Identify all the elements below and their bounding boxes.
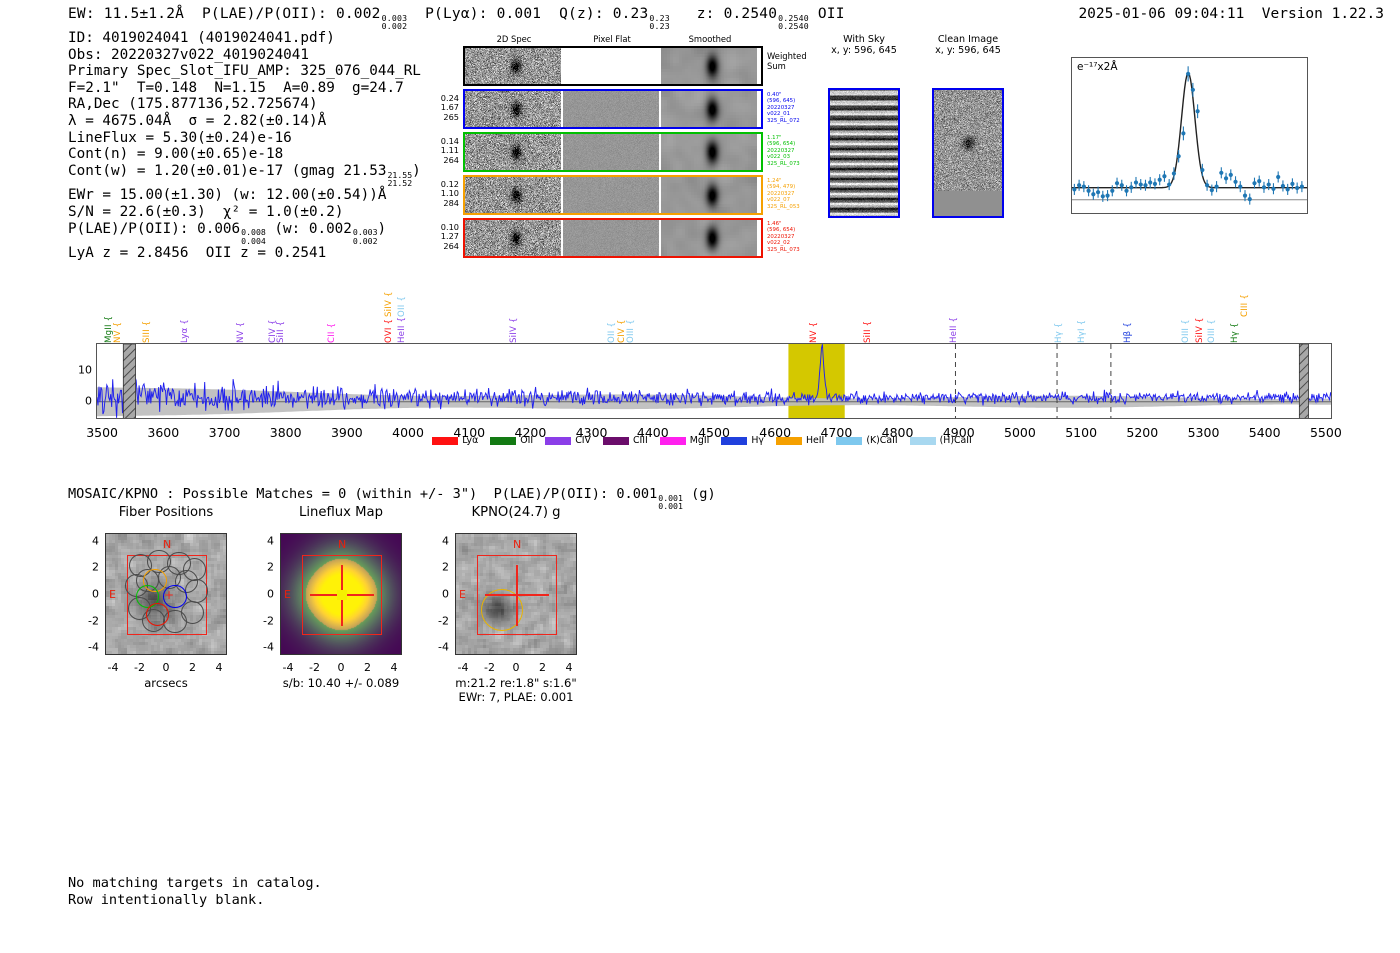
emission-line-marker: Hγ { <box>1054 322 1064 343</box>
spec2d-pixelflat <box>563 177 659 213</box>
emission-line-marker: OIII { <box>1181 319 1191 343</box>
image-panel-xtick: 0 <box>513 661 520 674</box>
cutout-name: Clean Image <box>910 34 1026 45</box>
image-panel-xtick: -2 <box>309 661 320 674</box>
cutout-clean-image <box>932 88 1004 218</box>
footer-note: No matching targets in catalog. Row inte… <box>68 875 322 909</box>
spec2d-row-right-values: 1.24"(594, 479)20220327v022_07325_RL_053 <box>767 178 827 210</box>
image-panel-title: Lineflux Map <box>280 505 402 520</box>
spec2d-row <box>463 132 763 172</box>
image-panel-canvas-frame: NE <box>455 533 577 655</box>
cutout-image <box>830 90 898 216</box>
crosshair-center-gap <box>512 590 522 600</box>
cutout-name: With Sky <box>806 34 922 45</box>
legend-swatch <box>490 437 516 445</box>
info-radec: RA,Dec (175.877136,52.725674) <box>68 96 421 113</box>
image-panel-xtick: -4 <box>282 661 293 674</box>
header-summary-line: EW: 11.5±1.2Å P(LAE)/P(OII): 0.0020.0030… <box>68 6 845 31</box>
emission-line-marker: OIII { <box>626 319 636 343</box>
emission-line-marker: NV { <box>236 322 246 343</box>
masked-band <box>123 344 135 419</box>
info-sn-chi2: S/N = 22.6(±0.3) χ² = 1.0(±0.2) <box>68 204 421 221</box>
spec2d-smoothed <box>661 91 757 127</box>
spec2d-row-left-values: 0.121.10284 <box>419 180 459 208</box>
image-panel-title: Fiber Positions <box>105 505 227 520</box>
image-panel-xtick: 2 <box>364 661 371 674</box>
image-panel-xtick: 2 <box>189 661 196 674</box>
info-obs: Obs: 20220327v022_4019024041 <box>68 47 421 64</box>
spec2d-smoothed <box>661 48 757 84</box>
full-spectrum-ytick: 10 <box>78 364 92 377</box>
emission-line-marker: HeII { <box>949 317 959 343</box>
header-version: Version 1.22.3 <box>1262 6 1384 22</box>
emission-line-marker: CIII { <box>1240 294 1250 317</box>
info-cont-n: Cont(n) = 9.00(±0.65)e-18 <box>68 146 421 163</box>
full-spectrum-xtick: 4300 <box>576 425 608 440</box>
image-panel-row: Fiber PositionsNE+-4-4-2-2002244arcsecsL… <box>0 505 1400 735</box>
image-panel-ytick: 0 <box>442 588 449 601</box>
image-panel-kpno: KPNO(24.7) gNE-4-4-2-2002244m:21.2 re:1.… <box>455 505 577 705</box>
weighted-sum-label: Weighted Sum <box>767 52 807 71</box>
spec2d-left-value: 284 <box>419 199 459 208</box>
header-plya: P(Lyα): 0.001 <box>425 6 541 22</box>
full-spectrum-ytick: 0 <box>85 394 92 407</box>
emission-line-marker: OII { <box>397 296 407 317</box>
image-panel-title: KPNO(24.7) g <box>455 505 577 520</box>
emission-line-marker: NV { <box>113 322 123 343</box>
full-spectrum-plot-area: e⁻¹⁷x2Å <box>96 343 1332 419</box>
emission-data-points <box>1072 66 1304 204</box>
full-spectrum-xtick: 4600 <box>759 425 791 440</box>
full-spectrum-xtick: 4700 <box>820 425 852 440</box>
emission-line-marker: Lyα { <box>180 319 190 343</box>
header-qz-value: 0.23 <box>613 6 649 22</box>
compass-north: N <box>163 538 171 551</box>
emission-line-marker: NV { <box>809 322 819 343</box>
spec2d-pixelflat <box>563 91 659 127</box>
spec2d-row-left-values: 0.241.67265 <box>419 94 459 122</box>
image-panel-xtick: 0 <box>338 661 345 674</box>
emission-line-marker: Hβ { <box>1123 322 1133 343</box>
cutout-title: Clean Imagex, y: 596, 645 <box>910 34 1026 57</box>
spec2d-row <box>463 89 763 129</box>
full-spectrum-xtick: 5500 <box>1310 425 1342 440</box>
spec2d-raw <box>465 177 561 213</box>
spec2d-raw <box>465 91 561 127</box>
cutout-with-sky <box>828 88 900 218</box>
image-panel-ytick: 4 <box>92 534 99 547</box>
emission-line-marker: SiII { <box>863 321 873 343</box>
info-cont-w: Cont(w) = 1.20(±0.01)e-17 (gmag 21.5321.… <box>68 163 421 188</box>
full-spectrum-xtick: 3700 <box>209 425 241 440</box>
compass-east: E <box>109 588 116 601</box>
emission-line-marker: HγI { <box>1077 320 1087 343</box>
image-panel-xtick: -2 <box>134 661 145 674</box>
full-spectrum-xtick: 5400 <box>1249 425 1281 440</box>
emission-line-marker: SiIV { <box>384 291 394 317</box>
image-panel-xtick: 4 <box>391 661 398 674</box>
header-plae-label: P(LAE)/P(OII): <box>202 6 327 22</box>
image-panel-ytick: 0 <box>267 588 274 601</box>
info-primary-spec: Primary Spec_Slot_IFU_AMP: 325_076_044_R… <box>68 63 421 80</box>
header-qz-errors: 0.230.23 <box>649 14 670 31</box>
spec2d-raw <box>465 48 561 84</box>
target-marker: + <box>164 588 174 602</box>
image-panel-ytick: -4 <box>263 641 274 654</box>
emission-line-marker: SIII { <box>142 321 152 343</box>
image-panel-ytick: 0 <box>92 588 99 601</box>
header-datetime: 2025-01-06 09:04:11 <box>1078 6 1244 22</box>
spec2d-right-value: 325_RL_073 <box>767 161 827 167</box>
image-panel-ytick: 2 <box>267 561 274 574</box>
cutout-image <box>934 90 1002 216</box>
image-panel-xtick: 4 <box>216 661 223 674</box>
spec2d-left-value: 265 <box>419 113 459 122</box>
spec2d-right-value: 325_RL_073 <box>767 247 827 253</box>
emission-zoom-svg <box>1072 58 1308 214</box>
spec2d-row <box>463 175 763 215</box>
spec2d-row-right-values: 1.17"(596, 654)20220327v022_03325_RL_073 <box>767 135 827 167</box>
spec2d-row-right-values: 1.46"(596, 654)20220327v022_02325_RL_073 <box>767 221 827 253</box>
image-panel-xtick: -2 <box>484 661 495 674</box>
spec2d-left-value: 264 <box>419 242 459 251</box>
emission-line-marker: SiII { <box>276 321 286 343</box>
masked-band <box>1299 344 1308 419</box>
spec2d-smoothed <box>661 177 757 213</box>
spec2d-stack: 2D Spec Pixel Flat Smoothed 0.241.672650… <box>425 34 805 249</box>
emission-line-marker: SiIV { <box>509 317 519 343</box>
image-panel-ytick: -2 <box>88 614 99 627</box>
image-panel-xtick: 2 <box>539 661 546 674</box>
emission-line-marker: Hγ { <box>1230 322 1240 343</box>
header-timestamp-version: 2025-01-06 09:04:11 Version 1.22.3 <box>1078 6 1384 22</box>
image-panel-caption: s/b: 10.40 +/- 0.089 <box>240 677 442 691</box>
compass-east: E <box>459 588 466 601</box>
info-id: ID: 4019024041 (4019024041.pdf) <box>68 30 421 47</box>
gaussian-fit-line <box>1072 73 1308 188</box>
image-panel-ytick: 2 <box>92 561 99 574</box>
image-panel-ytick: -2 <box>438 614 449 627</box>
emission-line-marker: CII { <box>327 323 337 343</box>
compass-north: N <box>338 538 346 551</box>
source-info-block: ID: 4019024041 (4019024041.pdf) Obs: 202… <box>68 30 421 262</box>
full-spectrum-xtick: 4000 <box>392 425 424 440</box>
info-ewr: EWr = 15.00(±1.30) (w: 12.00(±0.54))Å <box>68 187 421 204</box>
image-panel-ytick: -2 <box>263 614 274 627</box>
header-z-errors: 0.25400.2540 <box>778 14 809 31</box>
emission-zoom-unit-label: e⁻¹⁷x2Å <box>1077 61 1118 73</box>
emission-highlight-band <box>788 344 844 419</box>
full-spectrum-xtick: 4100 <box>453 425 485 440</box>
spec2d-smoothed <box>661 220 757 256</box>
emission-line-marker: OII { <box>607 322 617 343</box>
cutout-coords: x, y: 596, 645 <box>910 45 1026 56</box>
spec2d-col-title-2: Smoothed <box>665 34 755 44</box>
legend-swatch <box>545 437 571 445</box>
image-panel-xlabel: arcsecs <box>65 677 267 691</box>
image-panel-xtick: 4 <box>566 661 573 674</box>
image-panel-caption: m:21.2 re:1.8" s:1.6" EWr: 7, PLAE: 0.00… <box>415 677 617 704</box>
full-spectrum-chart: e⁻¹⁷x2Å LyαOIICIVCIIIMgIIHγHeII(K)CaII(H… <box>68 275 1336 465</box>
image-panel-xtick: -4 <box>107 661 118 674</box>
full-spectrum-xtick: 4500 <box>698 425 730 440</box>
header-z-species: OII <box>818 6 845 22</box>
full-spectrum-xtick: 4200 <box>515 425 547 440</box>
image-panel-ytick: 4 <box>267 534 274 547</box>
image-panel-ytick: -4 <box>88 641 99 654</box>
info-redshifts: LyA z = 2.8456 OII z = 0.2541 <box>68 245 421 262</box>
spec2d-smoothed <box>661 134 757 170</box>
emission-zoom-plot-area: e⁻¹⁷x2Å 0510152046404660468047004720 <box>1071 57 1308 214</box>
emission-line-marker: HeII { <box>397 317 407 343</box>
spec2d-row-left-values: 0.101.27264 <box>419 223 459 251</box>
header-z-label: z: <box>697 6 715 22</box>
spec2d-right-value: 325_RL_053 <box>767 204 827 210</box>
image-panel-xtick: -4 <box>457 661 468 674</box>
image-panel-ytick: 2 <box>442 561 449 574</box>
spec2d-raw <box>465 134 561 170</box>
info-lambda-sigma: λ = 4675.04Å σ = 2.82(±0.14)Å <box>68 113 421 130</box>
image-panel-canvas-frame: NE <box>280 533 402 655</box>
info-gmag-errors: 21.5521.52 <box>387 171 412 188</box>
full-spectrum-xtick: 4400 <box>637 425 669 440</box>
spec2d-pixelflat <box>563 220 659 256</box>
full-spectrum-xtick: 5300 <box>1188 425 1220 440</box>
spec2d-row-right-values: 0.40"(596, 645)20220327v022_01325_RL_072 <box>767 92 827 124</box>
image-panel-lineflux: Lineflux MapNE-4-4-2-2002244s/b: 10.40 +… <box>280 505 402 705</box>
full-spectrum-xtick: 5100 <box>1065 425 1097 440</box>
info-plae: P(LAE)/P(OII): 0.0060.0080.004 (w: 0.002… <box>68 221 421 246</box>
mosaic-text: MOSAIC/KPNO : Possible Matches = 0 (with… <box>68 486 657 502</box>
full-spectrum-xtick: 3900 <box>331 425 363 440</box>
info-lineflux: LineFlux = 5.30(±0.24)e-16 <box>68 130 421 147</box>
compass-north: N <box>513 538 521 551</box>
header-plae-errors: 0.0030.002 <box>382 14 408 31</box>
header-qz-label: Q(z): <box>559 6 604 22</box>
spec2d-row <box>463 46 763 86</box>
full-spectrum-xtick: 3600 <box>147 425 179 440</box>
full-spectrum-xtick: 5200 <box>1126 425 1158 440</box>
emission-line-marker: OIII { <box>1207 319 1217 343</box>
header-ew: EW: 11.5±1.2Å <box>68 6 184 22</box>
full-spectrum-xtick: 3500 <box>86 425 118 440</box>
cutout-coords: x, y: 596, 645 <box>806 45 922 56</box>
image-panel-ytick: 4 <box>442 534 449 547</box>
spec2d-pixelflat <box>563 48 659 84</box>
image-panel-ytick: -4 <box>438 641 449 654</box>
header-z-value: 0.2540 <box>724 6 778 22</box>
full-spectrum-xtick: 4800 <box>882 425 914 440</box>
cutout-title: With Skyx, y: 596, 645 <box>806 34 922 57</box>
full-spectrum-xtick: 3800 <box>270 425 302 440</box>
compass-east: E <box>284 588 291 601</box>
spec2d-raw <box>465 220 561 256</box>
full-spectrum-xtick: 5000 <box>1004 425 1036 440</box>
full-spectrum-xtick: 4900 <box>943 425 975 440</box>
spec2d-col-title-1: Pixel Flat <box>567 34 657 44</box>
info-params: F=2.1" T=0.148 N=1.15 A=0.89 g=24.7 <box>68 80 421 97</box>
spec2d-right-value: 325_RL_072 <box>767 118 827 124</box>
mosaic-filter: (g) <box>691 486 716 502</box>
crosshair-center-gap <box>337 590 347 600</box>
spec2d-row-left-values: 0.141.11264 <box>419 137 459 165</box>
emission-line-zoom-chart: e⁻¹⁷x2Å 0510152046404660468047004720 <box>1035 55 1310 240</box>
emission-line-marker: CIV { <box>617 319 627 343</box>
image-panel-xtick: 0 <box>163 661 170 674</box>
spec2d-pixelflat <box>563 134 659 170</box>
spec2d-row <box>463 218 763 258</box>
emission-line-marker: SiIV { <box>1195 317 1205 343</box>
header-plae-value: 0.002 <box>336 6 381 22</box>
emission-line-marker: OVI { <box>384 319 394 343</box>
full-spectrum-svg <box>97 344 1332 419</box>
spec2d-left-value: 264 <box>419 156 459 165</box>
image-panel-fibers: Fiber PositionsNE+-4-4-2-2002244arcsecs <box>105 505 227 705</box>
image-panel-canvas-frame: NE+ <box>105 533 227 655</box>
spec2d-col-title-0: 2D Spec <box>469 34 559 44</box>
